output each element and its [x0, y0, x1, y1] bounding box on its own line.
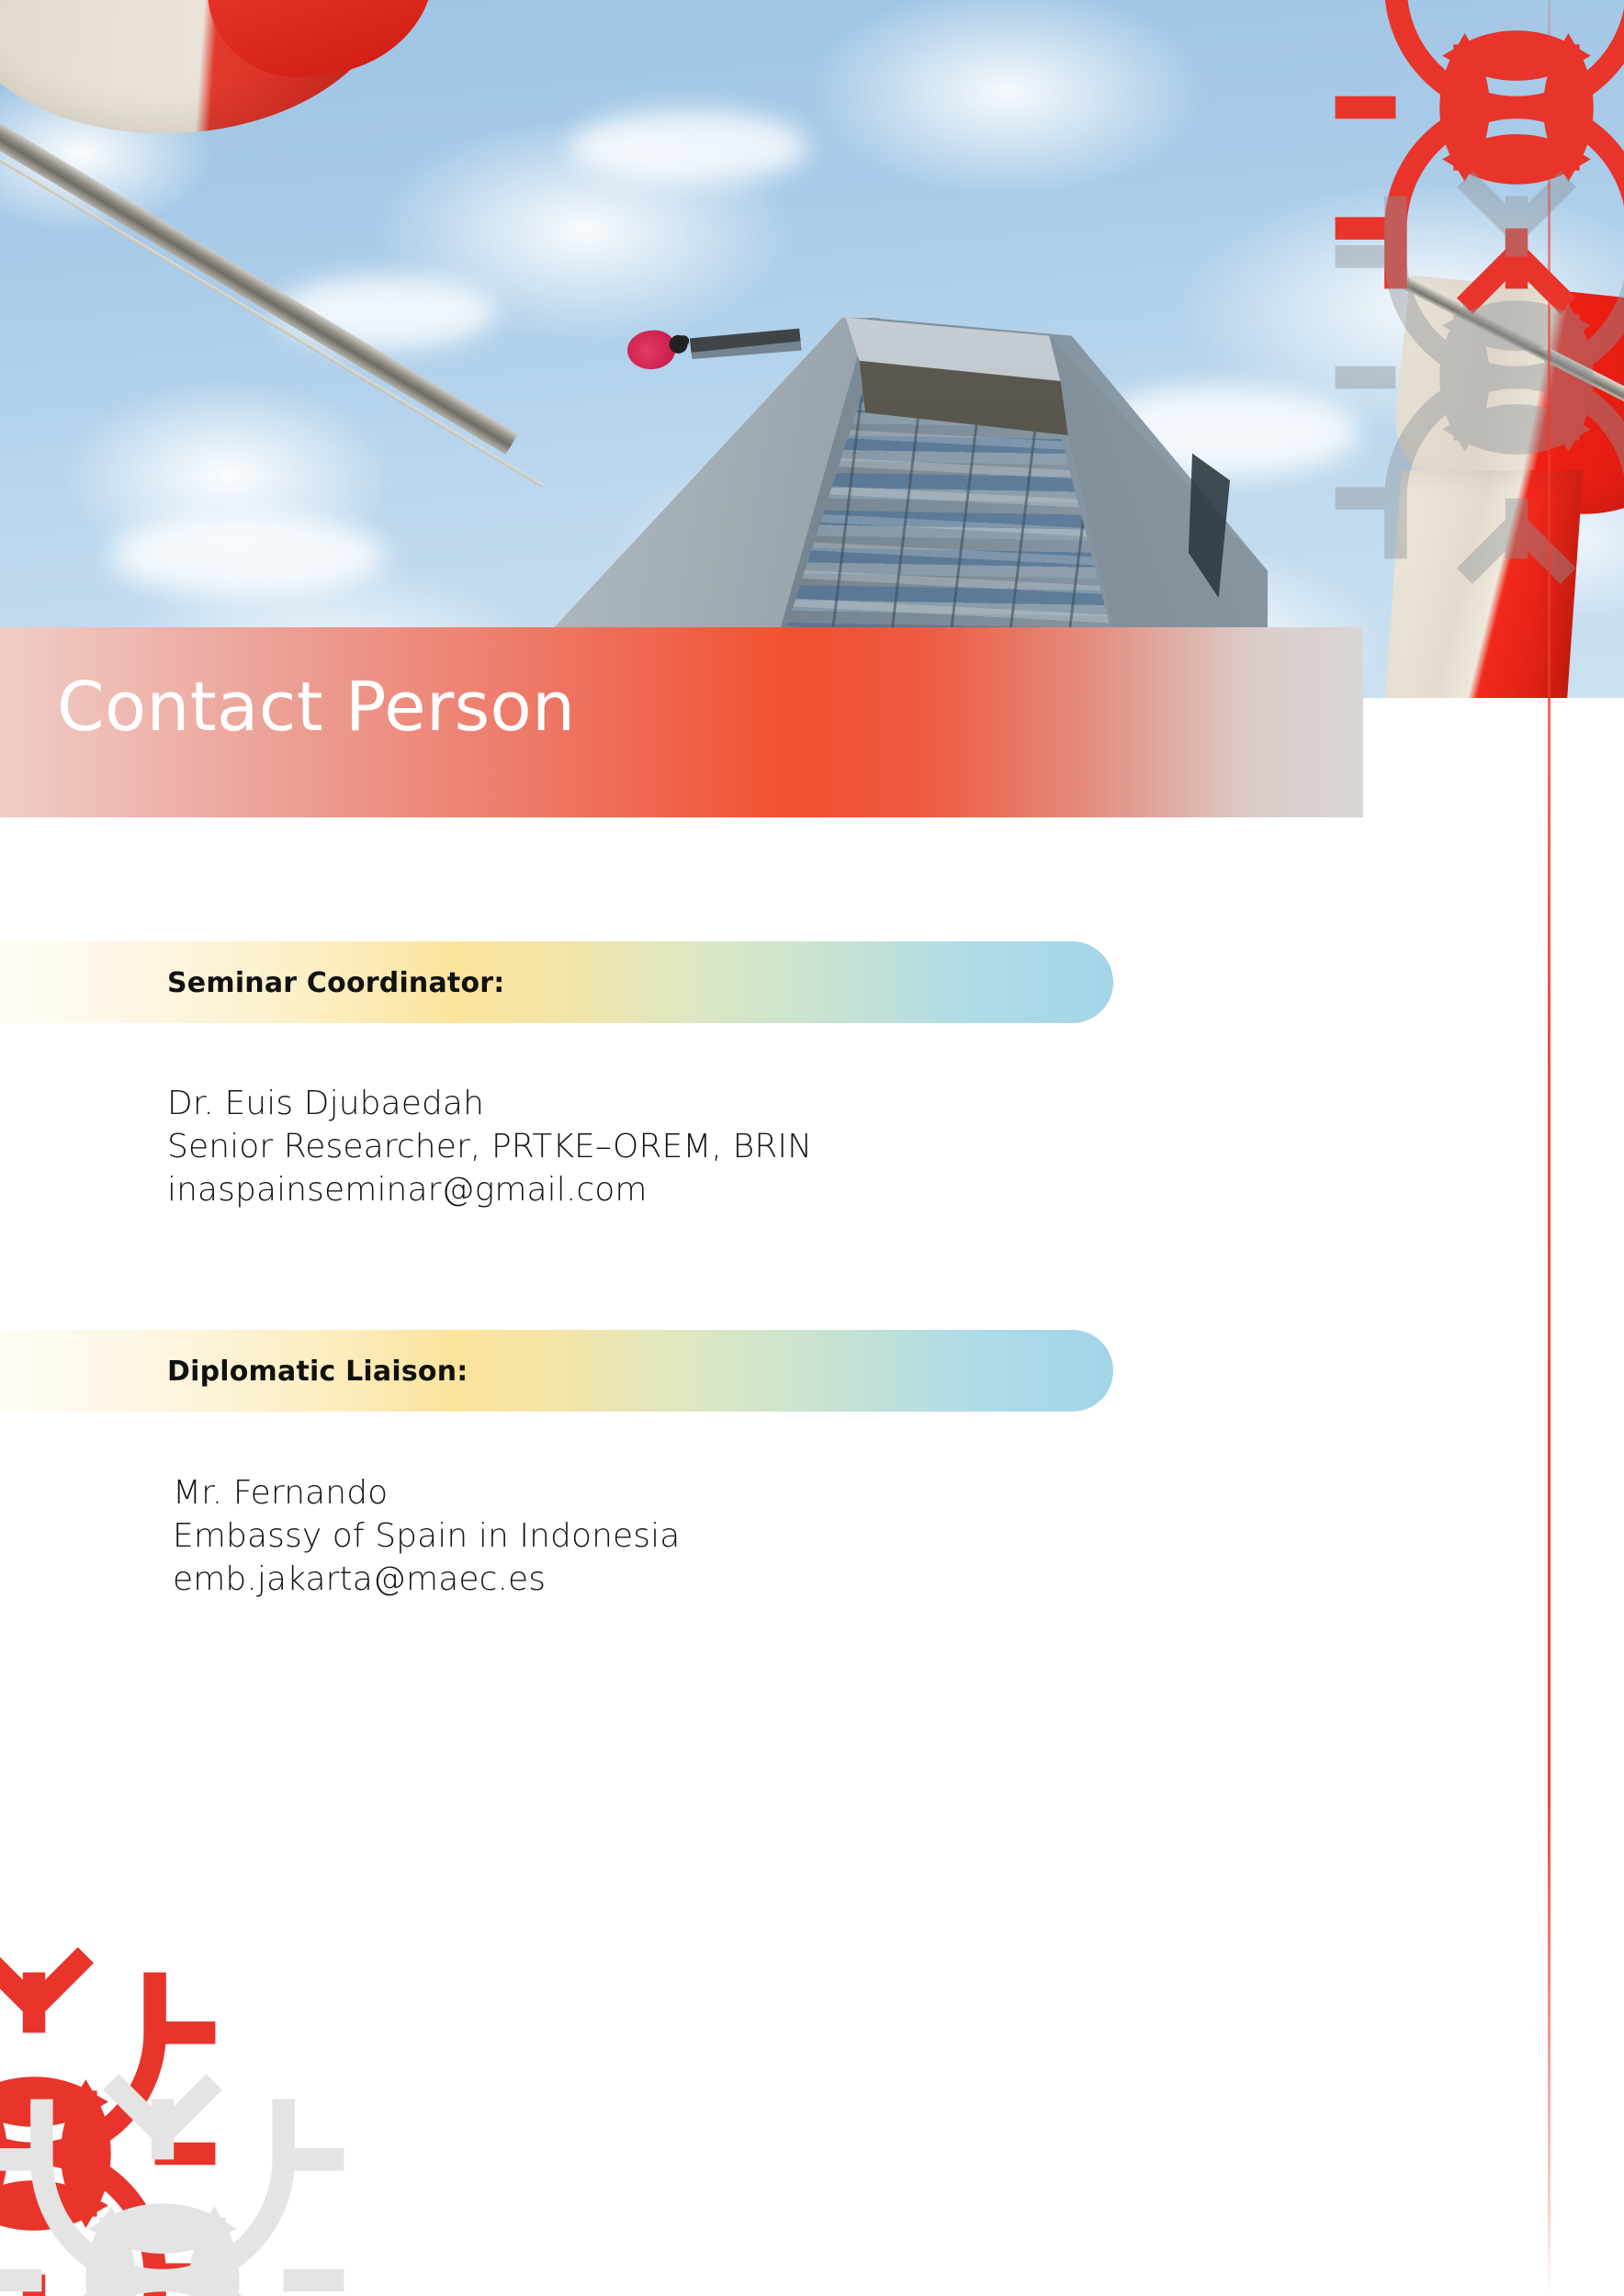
hero-right-step	[1363, 698, 1624, 768]
contact-label-diplomatic-liaison: Diplomatic Liaison:	[167, 1356, 468, 1388]
contact-details-seminar-coordinator: Dr. Euis Djubaedah Senior Researcher, PR…	[167, 1082, 1086, 1211]
title-banner: Contact Person	[0, 627, 1363, 817]
contact-pill-seminar-coordinator: Seminar Coordinator:	[0, 941, 1113, 1023]
contact-details-diplomatic-liaison: Mr. Fernando Embassy of Spain in Indones…	[173, 1471, 1091, 1601]
brin-wordmark	[690, 327, 802, 366]
slide-page: Contact Person Seminar Coordinator: Dr. …	[0, 0, 1624, 2296]
page-title: Contact Person	[57, 673, 575, 741]
cloud-wisp	[570, 110, 808, 184]
ornament-top-right-gray	[1301, 162, 1624, 593]
cloud-wisp	[110, 514, 386, 597]
ornament-bottom-left-gray	[0, 2065, 378, 2296]
vertical-red-rule	[1548, 0, 1551, 2296]
brin-logo-icon	[626, 328, 677, 371]
contact-label-seminar-coordinator: Seminar Coordinator:	[167, 967, 504, 999]
contact-pill-diplomatic-liaison: Diplomatic Liaison:	[0, 1330, 1113, 1412]
